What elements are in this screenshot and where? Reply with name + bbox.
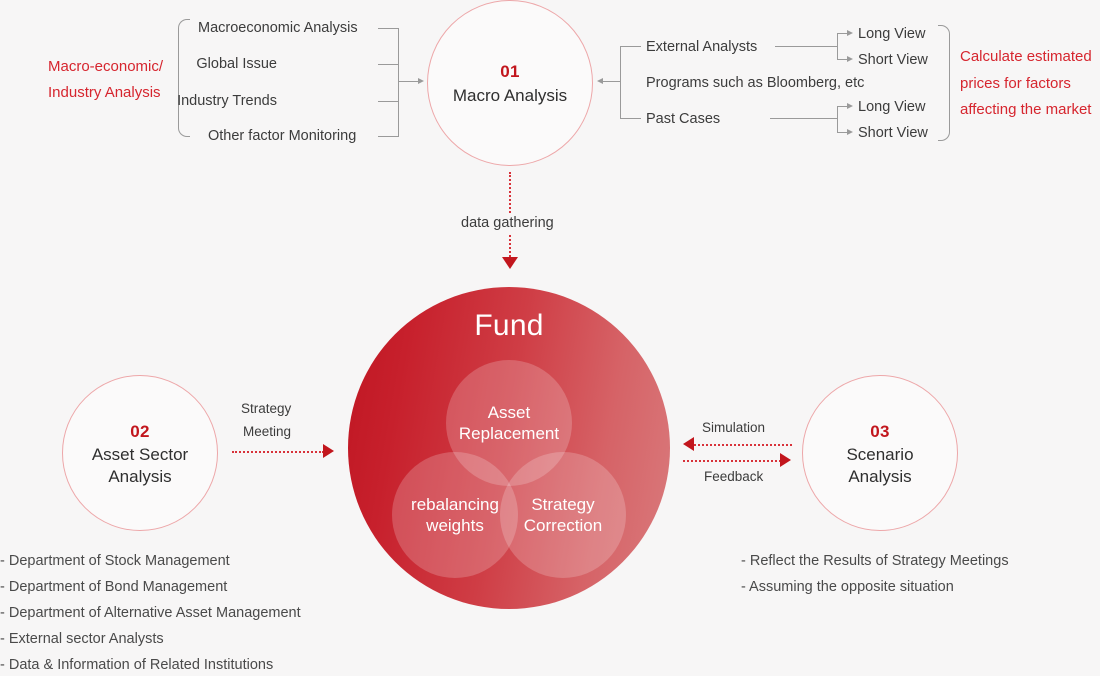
node-02-notes: - Department of Stock Management - Depar… (0, 548, 301, 676)
strategy-meeting-arrow-line (232, 451, 324, 453)
fund-segment-1-line1: rebalancing (411, 494, 499, 515)
fund-title: Fund (348, 309, 670, 343)
feedback-arrow-head-icon (780, 453, 791, 467)
node-03-label-line1: Scenario (846, 444, 913, 466)
node-02-number: 02 (130, 419, 150, 445)
fund-segment-0-line2: Replacement (459, 423, 559, 444)
right-rail-to-node01 (603, 81, 621, 82)
left-rail (398, 28, 399, 137)
diagram-canvas: Macro-economic/ Industry Analysis Macroe… (0, 0, 1100, 676)
right-rail (620, 46, 621, 119)
fund-segment-2-line1: Strategy (524, 494, 602, 515)
outcome-line3: affecting the market (960, 100, 1091, 120)
data-gathering-arrow-head-icon (502, 257, 518, 269)
simulation-arrow-head-icon (683, 437, 694, 451)
strategy-meeting-arrow-head-icon (323, 444, 334, 458)
outcome-line1: Calculate estimated (960, 47, 1092, 67)
node-03-scenario-analysis[interactable]: 03 Scenario Analysis (802, 375, 958, 531)
fund-segment-0-line1: Asset (459, 402, 559, 423)
arrow-right-into-node01-icon (418, 78, 424, 84)
left-rail-to-node01 (398, 81, 420, 82)
left-group-bracket (178, 19, 190, 137)
left-stub-3 (378, 136, 399, 137)
fork-upper-arrow-1-icon (847, 56, 853, 62)
left-stub-1 (378, 64, 399, 65)
node-03-number: 03 (870, 419, 890, 445)
macro-economic-category-label-line2: Industry Analysis (48, 83, 161, 103)
top-right-source-0: External Analysts (646, 38, 757, 57)
strategy-meeting-label-line2: Meeting (243, 423, 291, 441)
fork-lower-trunk (770, 118, 838, 119)
node-02-label-line1: Asset Sector (92, 444, 188, 466)
top-left-item-1: Global Issue (196, 55, 277, 74)
top-left-item-0: Macroeconomic Analysis (198, 19, 358, 38)
top-left-item-2: Industry Trends (177, 92, 277, 111)
fund-segment-2-line2: Correction (524, 515, 602, 536)
top-right-source-2: Past Cases (646, 110, 720, 129)
fork-upper-split (837, 33, 838, 59)
node-02-note-2: - Department of Alternative Asset Manage… (0, 600, 301, 626)
top-right-view-upper-0: Long View (858, 25, 925, 44)
right-group-bracket (938, 25, 950, 141)
feedback-label: Feedback (704, 468, 763, 486)
fork-lower-split (837, 106, 838, 132)
fund-circle[interactable]: Fund Asset Replacement rebalancing weigh… (348, 287, 670, 609)
right-stub-2 (620, 118, 641, 119)
outcome-line2: prices for factors (960, 74, 1071, 94)
fork-lower-arrow-0-icon (847, 103, 853, 109)
node-02-note-3: - External sector Analysts (0, 626, 301, 652)
node-02-asset-sector-analysis[interactable]: 02 Asset Sector Analysis (62, 375, 218, 531)
top-right-view-upper-1: Short View (858, 51, 928, 70)
strategy-meeting-label-line1: Strategy (241, 400, 291, 418)
simulation-arrow-line (694, 444, 792, 446)
left-stub-0 (378, 28, 399, 29)
node-01-number: 01 (500, 59, 520, 85)
node-03-label-line2: Analysis (848, 466, 911, 488)
node-01-label: Macro Analysis (453, 85, 567, 107)
macro-economic-category-label-line1: Macro-economic/ (48, 57, 163, 77)
top-left-item-3: Other factor Monitoring (208, 127, 356, 146)
node-01-macro-analysis[interactable]: 01 Macro Analysis (427, 0, 593, 166)
node-03-note-0: - Reflect the Results of Strategy Meetin… (741, 548, 1009, 574)
fund-segment-strategy-correction[interactable]: Strategy Correction (500, 452, 626, 578)
feedback-arrow-line (683, 460, 781, 462)
node-02-note-4: - Data & Information of Related Institut… (0, 652, 301, 676)
node-03-notes: - Reflect the Results of Strategy Meetin… (741, 548, 1009, 600)
simulation-label: Simulation (702, 419, 765, 437)
node-03-note-1: - Assuming the opposite situation (741, 574, 1009, 600)
fork-lower-arrow-1-icon (847, 129, 853, 135)
data-gathering-label: data gathering (457, 214, 558, 233)
fork-upper-trunk (775, 46, 838, 47)
node-02-label-line2: Analysis (108, 466, 171, 488)
right-stub-0 (620, 46, 641, 47)
fund-segment-1-line2: weights (411, 515, 499, 536)
node-02-note-1: - Department of Bond Management (0, 574, 301, 600)
top-right-source-1: Programs such as Bloomberg, etc (646, 74, 864, 93)
fork-upper-arrow-0-icon (847, 30, 853, 36)
node-02-note-0: - Department of Stock Management (0, 548, 301, 574)
left-stub-2 (378, 101, 399, 102)
top-right-view-lower-1: Short View (858, 124, 928, 143)
top-right-view-lower-0: Long View (858, 98, 925, 117)
